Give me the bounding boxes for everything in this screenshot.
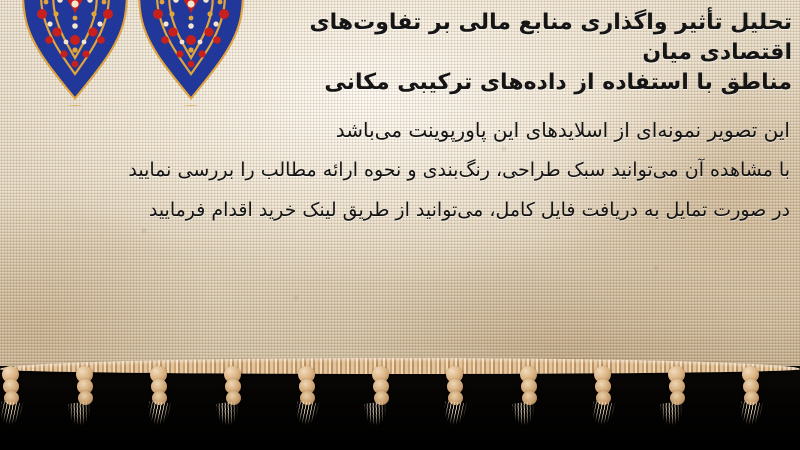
fringe-brush-icon bbox=[293, 401, 323, 443]
fringe-tassel bbox=[512, 362, 546, 450]
carpet-knotted-fringe bbox=[0, 362, 800, 450]
title-line-1: تحلیل تأثیر واگذاری منابع مالی بر تفاوت‌… bbox=[232, 8, 792, 68]
fringe-tassel bbox=[734, 362, 768, 450]
fringe-tassel bbox=[68, 362, 102, 450]
fringe-tassel bbox=[290, 362, 324, 450]
fringe-brush-icon bbox=[512, 401, 543, 444]
persian-medallion-ornament-left bbox=[16, 0, 134, 106]
fringe-tassel bbox=[216, 362, 250, 450]
fringe-brush-icon bbox=[145, 401, 175, 443]
slide-body: این تصویر نمونه‌ای از اسلایدهای این پاور… bbox=[10, 110, 790, 230]
fringe-tassel bbox=[660, 362, 694, 450]
fringe-brush-icon bbox=[660, 401, 691, 444]
fringe-brush-icon bbox=[364, 401, 395, 444]
fringe-tassel bbox=[364, 362, 398, 450]
fringe-brush-icon bbox=[589, 401, 619, 443]
fringe-brush-icon bbox=[216, 401, 247, 444]
fringe-brush-icon bbox=[0, 401, 27, 443]
slide-title: تحلیل تأثیر واگذاری منابع مالی بر تفاوت‌… bbox=[232, 8, 792, 98]
fringe-brush-icon bbox=[441, 401, 471, 443]
body-line-1: این تصویر نمونه‌ای از اسلایدهای این پاور… bbox=[10, 110, 790, 150]
fringe-brush-icon bbox=[68, 401, 99, 444]
body-line-2: با مشاهده آن می‌توانید سبک طراحی، رنگ‌بن… bbox=[10, 150, 790, 190]
fringe-tassel bbox=[142, 362, 176, 450]
fringe-tassel bbox=[0, 362, 28, 450]
body-line-3: در صورت تمایل به دریافت فایل کامل، می‌تو… bbox=[10, 190, 790, 230]
fringe-tassel bbox=[438, 362, 472, 450]
title-line-2: مناطق با استفاده از داده‌های ترکیبی مکان… bbox=[232, 68, 792, 98]
fringe-tassel bbox=[586, 362, 620, 450]
fringe-brush-icon bbox=[737, 401, 767, 443]
presentation-slide: تحلیل تأثیر واگذاری منابع مالی بر تفاوت‌… bbox=[0, 0, 800, 450]
